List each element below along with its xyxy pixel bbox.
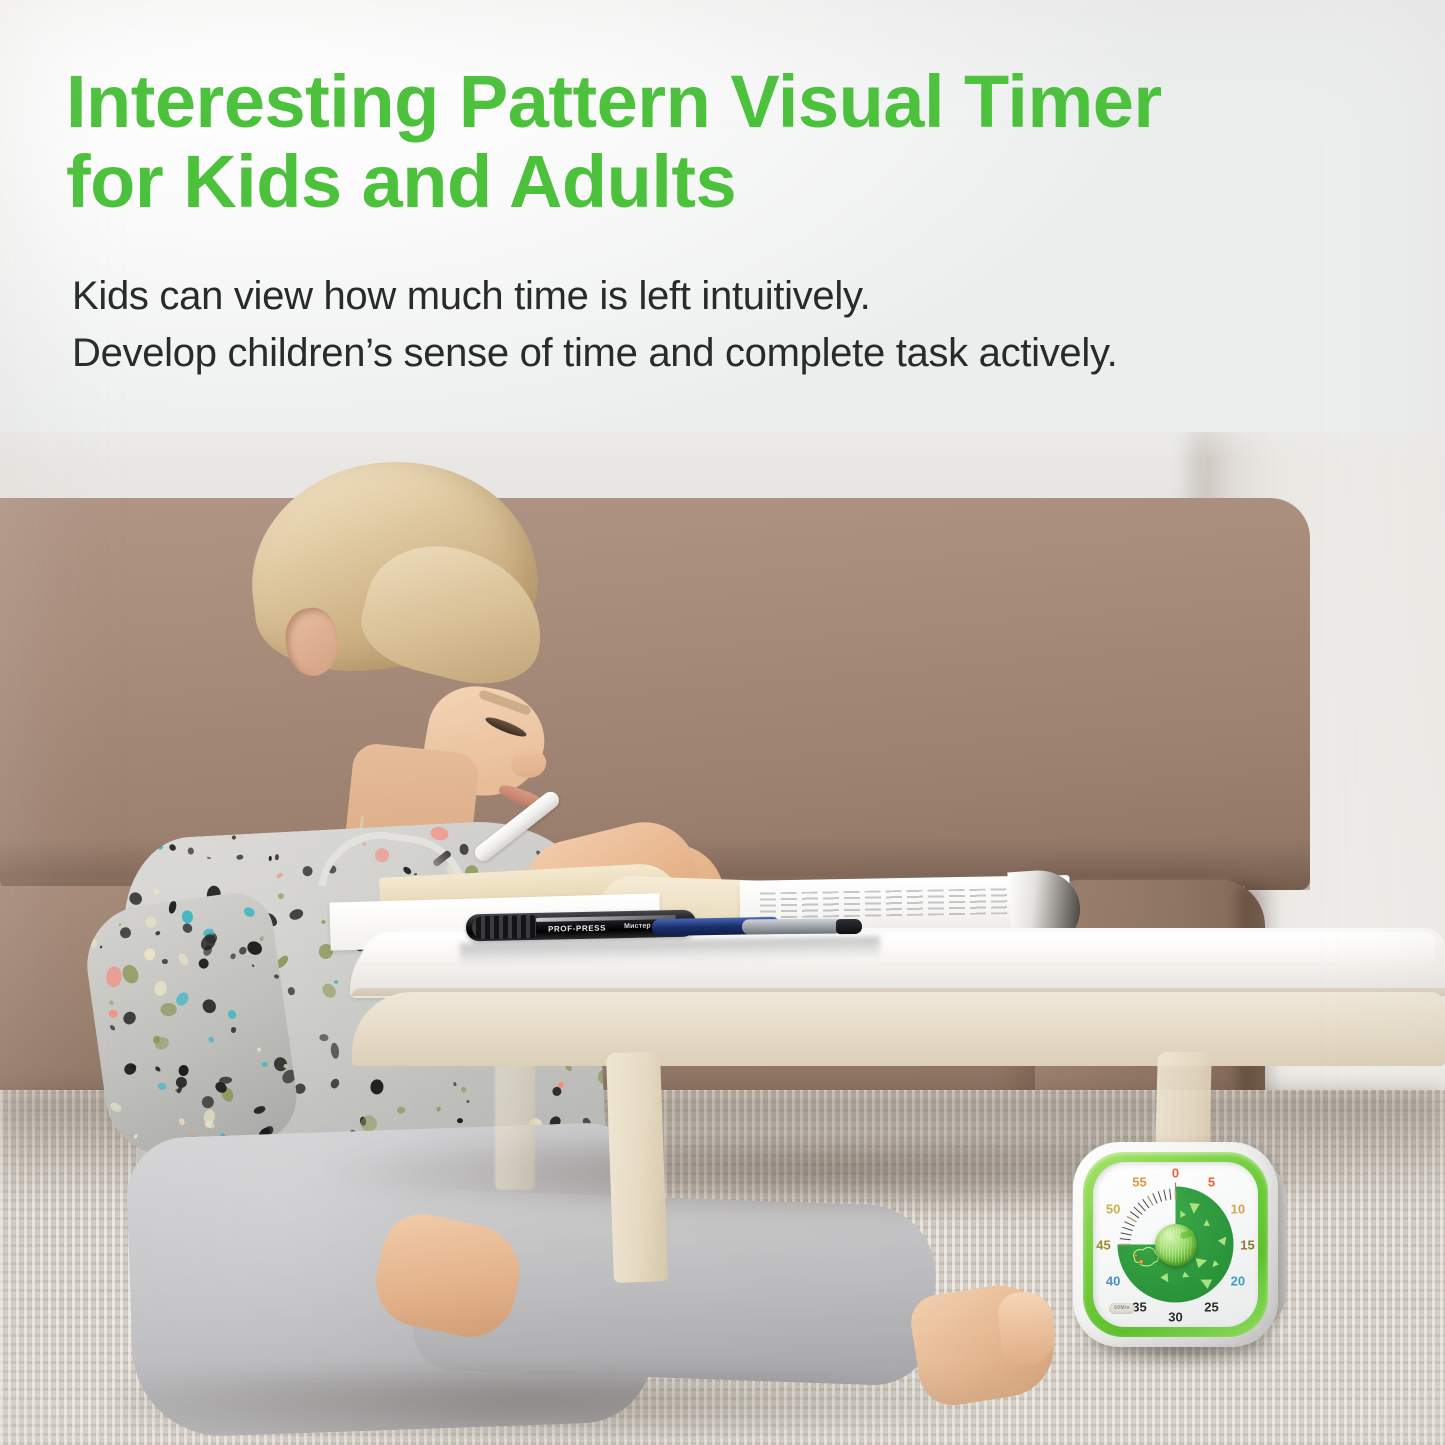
shirt-splatter	[174, 990, 191, 1008]
marker-brand-label: PROF-PRESS	[548, 923, 606, 933]
shirt-splatter	[168, 900, 178, 914]
shirt-splatter	[87, 937, 99, 949]
table-apron	[352, 992, 1445, 1066]
dial-tick	[1121, 1233, 1132, 1235]
shirt-splatter	[207, 856, 211, 859]
tshirt-sleeve	[80, 888, 303, 1162]
shirt-splatter	[181, 921, 194, 934]
marker-brand-sub-label: Mистер	[624, 923, 651, 931]
shirt-splatter	[273, 974, 279, 979]
dial-tick	[1148, 1196, 1154, 1206]
dial-tick	[1158, 1191, 1161, 1201]
dial-tick	[1130, 1212, 1139, 1218]
shirt-splatter	[156, 1082, 166, 1091]
shirt-splatter	[277, 893, 285, 901]
dial-numeral: 0	[1172, 1165, 1179, 1180]
shirt-splatter	[108, 1010, 118, 1019]
shirt-splatter	[287, 908, 304, 922]
shirt-splatter	[154, 1066, 161, 1073]
shirt-splatter	[227, 1009, 238, 1020]
shirt-splatter	[207, 1036, 215, 1044]
timer-brand-label: 60Min	[1109, 1303, 1135, 1314]
dial-tick	[1120, 1239, 1131, 1240]
shirt-splatter	[259, 936, 265, 942]
shirt-splatter	[276, 871, 284, 879]
shirt-splatter	[275, 854, 279, 860]
shirt-splatter	[321, 919, 327, 925]
dial-numeral: 30	[1168, 1309, 1182, 1324]
shirt-splatter	[235, 854, 243, 860]
shirt-splatter	[152, 980, 167, 997]
shirt-splatter	[429, 826, 449, 842]
shirt-splatter	[120, 962, 141, 985]
shirt-splatter	[120, 927, 132, 939]
shirt-splatter	[269, 856, 272, 861]
shirt-splatter	[153, 887, 161, 895]
dial-numeral: 5	[1208, 1175, 1215, 1190]
dial-tick	[1122, 1227, 1132, 1230]
shirt-splatter	[453, 1082, 457, 1086]
shirt-splatter	[178, 1065, 190, 1077]
dial-numeral: 40	[1106, 1273, 1120, 1288]
table-leg-front	[606, 1051, 668, 1283]
shirt-splatter	[119, 923, 122, 927]
shirt-splatter	[231, 1026, 238, 1033]
shirt-splatter	[197, 958, 209, 970]
visual-timer-device[interactable]: 0510152025303540455055 60Min	[1073, 1142, 1288, 1357]
shirt-splatter	[127, 890, 145, 908]
dial-tick	[1153, 1193, 1157, 1203]
shirt-splatter	[155, 930, 161, 936]
shirt-splatter	[251, 964, 255, 968]
dial-tick	[1164, 1190, 1166, 1201]
body-shadow	[120, 1370, 1020, 1445]
lifestyle-photo: PROF-PRESS Mистер 0510152025303540455055	[0, 400, 1445, 1445]
shirt-splatter	[109, 1025, 116, 1032]
shirt-splatter	[329, 1077, 341, 1090]
shirt-splatter	[105, 966, 122, 988]
page-title: Interesting Pattern Visual Timer for Kid…	[66, 62, 1386, 222]
shirt-splatter	[200, 997, 219, 1016]
shirt-splatter	[301, 864, 313, 877]
shirt-splatter	[201, 1096, 214, 1109]
dial-numeral: 15	[1240, 1237, 1254, 1252]
shirt-splatter	[205, 1119, 216, 1130]
shirt-splatter	[133, 1133, 138, 1139]
shirt-splatter	[187, 847, 194, 855]
shirt-splatter	[161, 1003, 177, 1016]
shirt-splatter	[178, 1117, 186, 1126]
shirt-splatter	[460, 843, 470, 855]
dial-tick	[1134, 1207, 1142, 1214]
shirt-splatter	[108, 1000, 114, 1006]
shirt-splatter	[99, 945, 103, 949]
shirt-splatter	[257, 1047, 263, 1053]
product-banner: PROF-PRESS Mистер 0510152025303540455055	[0, 0, 1445, 1445]
dial-numeral: 20	[1231, 1273, 1245, 1288]
shirt-splatter	[145, 916, 157, 928]
shirt-splatter	[319, 1034, 329, 1042]
shirt-splatter	[144, 948, 155, 961]
page-subtitle: Kids can view how much time is left intu…	[72, 268, 1432, 382]
shirt-splatter	[162, 959, 168, 964]
timer-brand-mark: 60Min	[1109, 1303, 1135, 1314]
shirt-splatter	[168, 843, 178, 853]
shirt-splatter	[181, 910, 193, 924]
shirt-splatter	[158, 846, 164, 851]
timer-face: 0510152025303540455055 60Min	[1093, 1162, 1258, 1327]
dial-tick	[1138, 1203, 1145, 1211]
dial-tick	[1143, 1199, 1149, 1208]
shirt-splatter	[334, 980, 338, 983]
shirt-splatter	[436, 1107, 442, 1113]
shirt-splatter	[242, 905, 256, 918]
grey-pen-cap	[836, 919, 862, 934]
dial-tick	[1127, 1217, 1137, 1223]
dial-tick	[1124, 1222, 1134, 1226]
shirt-splatter	[176, 952, 190, 967]
grey-pen-barrel	[742, 919, 842, 935]
shirt-splatter	[552, 1086, 562, 1096]
header-band: Interesting Pattern Visual Timer for Kid…	[0, 0, 1445, 432]
shirt-splatter	[229, 953, 237, 961]
shirt-splatter	[283, 1063, 288, 1069]
shirt-splatter	[121, 1009, 139, 1027]
dial-tick	[1170, 1189, 1171, 1200]
dial-numeral: 45	[1096, 1237, 1110, 1252]
shirt-splatter	[397, 1106, 405, 1113]
shirt-splatter	[465, 1100, 469, 1104]
dial-numeral: 50	[1106, 1201, 1120, 1216]
shirt-splatter	[108, 1101, 123, 1114]
shirt-splatter	[231, 835, 237, 841]
dial-numeral: 55	[1132, 1175, 1146, 1190]
book-text-lines	[760, 888, 1026, 919]
shirt-splatter	[262, 1062, 268, 1067]
shirt-splatter	[330, 1042, 340, 1058]
dial-numeral: 25	[1204, 1299, 1218, 1314]
marker-grip	[472, 915, 536, 939]
shirt-splatter	[253, 1105, 267, 1116]
shirt-splatter	[287, 986, 296, 996]
shirt-splatter	[460, 1086, 467, 1094]
dial-numeral: 10	[1231, 1201, 1245, 1216]
shirt-splatter	[319, 981, 338, 1000]
shirt-splatter	[457, 1118, 463, 1123]
shirt-splatter	[244, 939, 264, 958]
shirt-splatter	[369, 1079, 383, 1095]
